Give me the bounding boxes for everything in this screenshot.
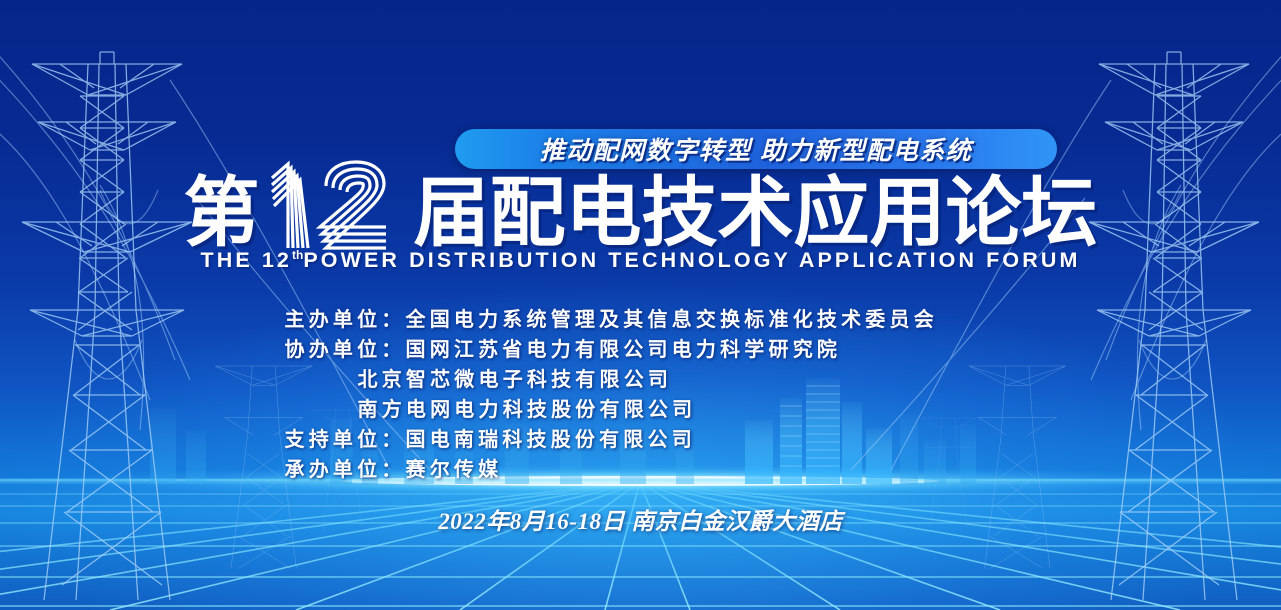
- title-prefix: 第: [184, 176, 260, 252]
- organizer-row: 主办单位：全国电力系统管理及其信息交换标准化技术委员会: [285, 305, 997, 335]
- subtitle-lead: THE 12: [201, 248, 293, 272]
- organizer-row: 承办单位：赛尔传媒: [285, 455, 997, 485]
- subtitle-ordinal: th: [292, 248, 303, 262]
- edition-number-12: [264, 156, 412, 252]
- organizer-value: 全国电力系统管理及其信息交换标准化技术委员会: [406, 309, 938, 331]
- organizer-value: 国电南瑞科技股份有限公司: [406, 429, 696, 451]
- organizer-label: 支持单位：: [285, 429, 406, 451]
- subtitle-rest: POWER DISTRIBUTION TECHNOLOGY APPLICATIO…: [303, 248, 1080, 272]
- main-title: 第: [0, 160, 1281, 252]
- organizer-row: 协办单位：国网江苏省电力有限公司电力科学研究院: [285, 335, 997, 365]
- title-suffix: 届配电技术应用论坛: [414, 176, 1098, 252]
- organizer-label: 主办单位：: [285, 309, 406, 331]
- organizer-value: 赛尔传媒: [406, 459, 503, 481]
- organizer-row: 北京智芯微电子科技有限公司: [212, 365, 1070, 395]
- poster-content: 推动配网数字转型 助力新型配电系统 第: [0, 0, 1281, 610]
- organizer-list: 主办单位：全国电力系统管理及其信息交换标准化技术委员会 协办单位：国网江苏省电力…: [0, 305, 1281, 485]
- organizer-label: 承办单位：: [285, 459, 406, 481]
- subtitle-english: THE 12thPOWER DISTRIBUTION TECHNOLOGY AP…: [0, 248, 1281, 273]
- conference-poster: 推动配网数字转型 助力新型配电系统 第: [0, 0, 1281, 610]
- date-venue-line: 2022年8月16-18日 南京白金汉爵大酒店: [0, 502, 1281, 536]
- organizer-row: 支持单位：国电南瑞科技股份有限公司: [285, 425, 997, 455]
- organizer-value: 北京智芯微电子科技有限公司: [358, 369, 673, 391]
- organizer-value: 国网江苏省电力有限公司电力科学研究院: [406, 339, 842, 361]
- organizer-value: 南方电网电力科技股份有限公司: [358, 399, 697, 421]
- organizer-label: 协办单位：: [285, 339, 406, 361]
- organizer-row: 南方电网电力科技股份有限公司: [212, 395, 1070, 425]
